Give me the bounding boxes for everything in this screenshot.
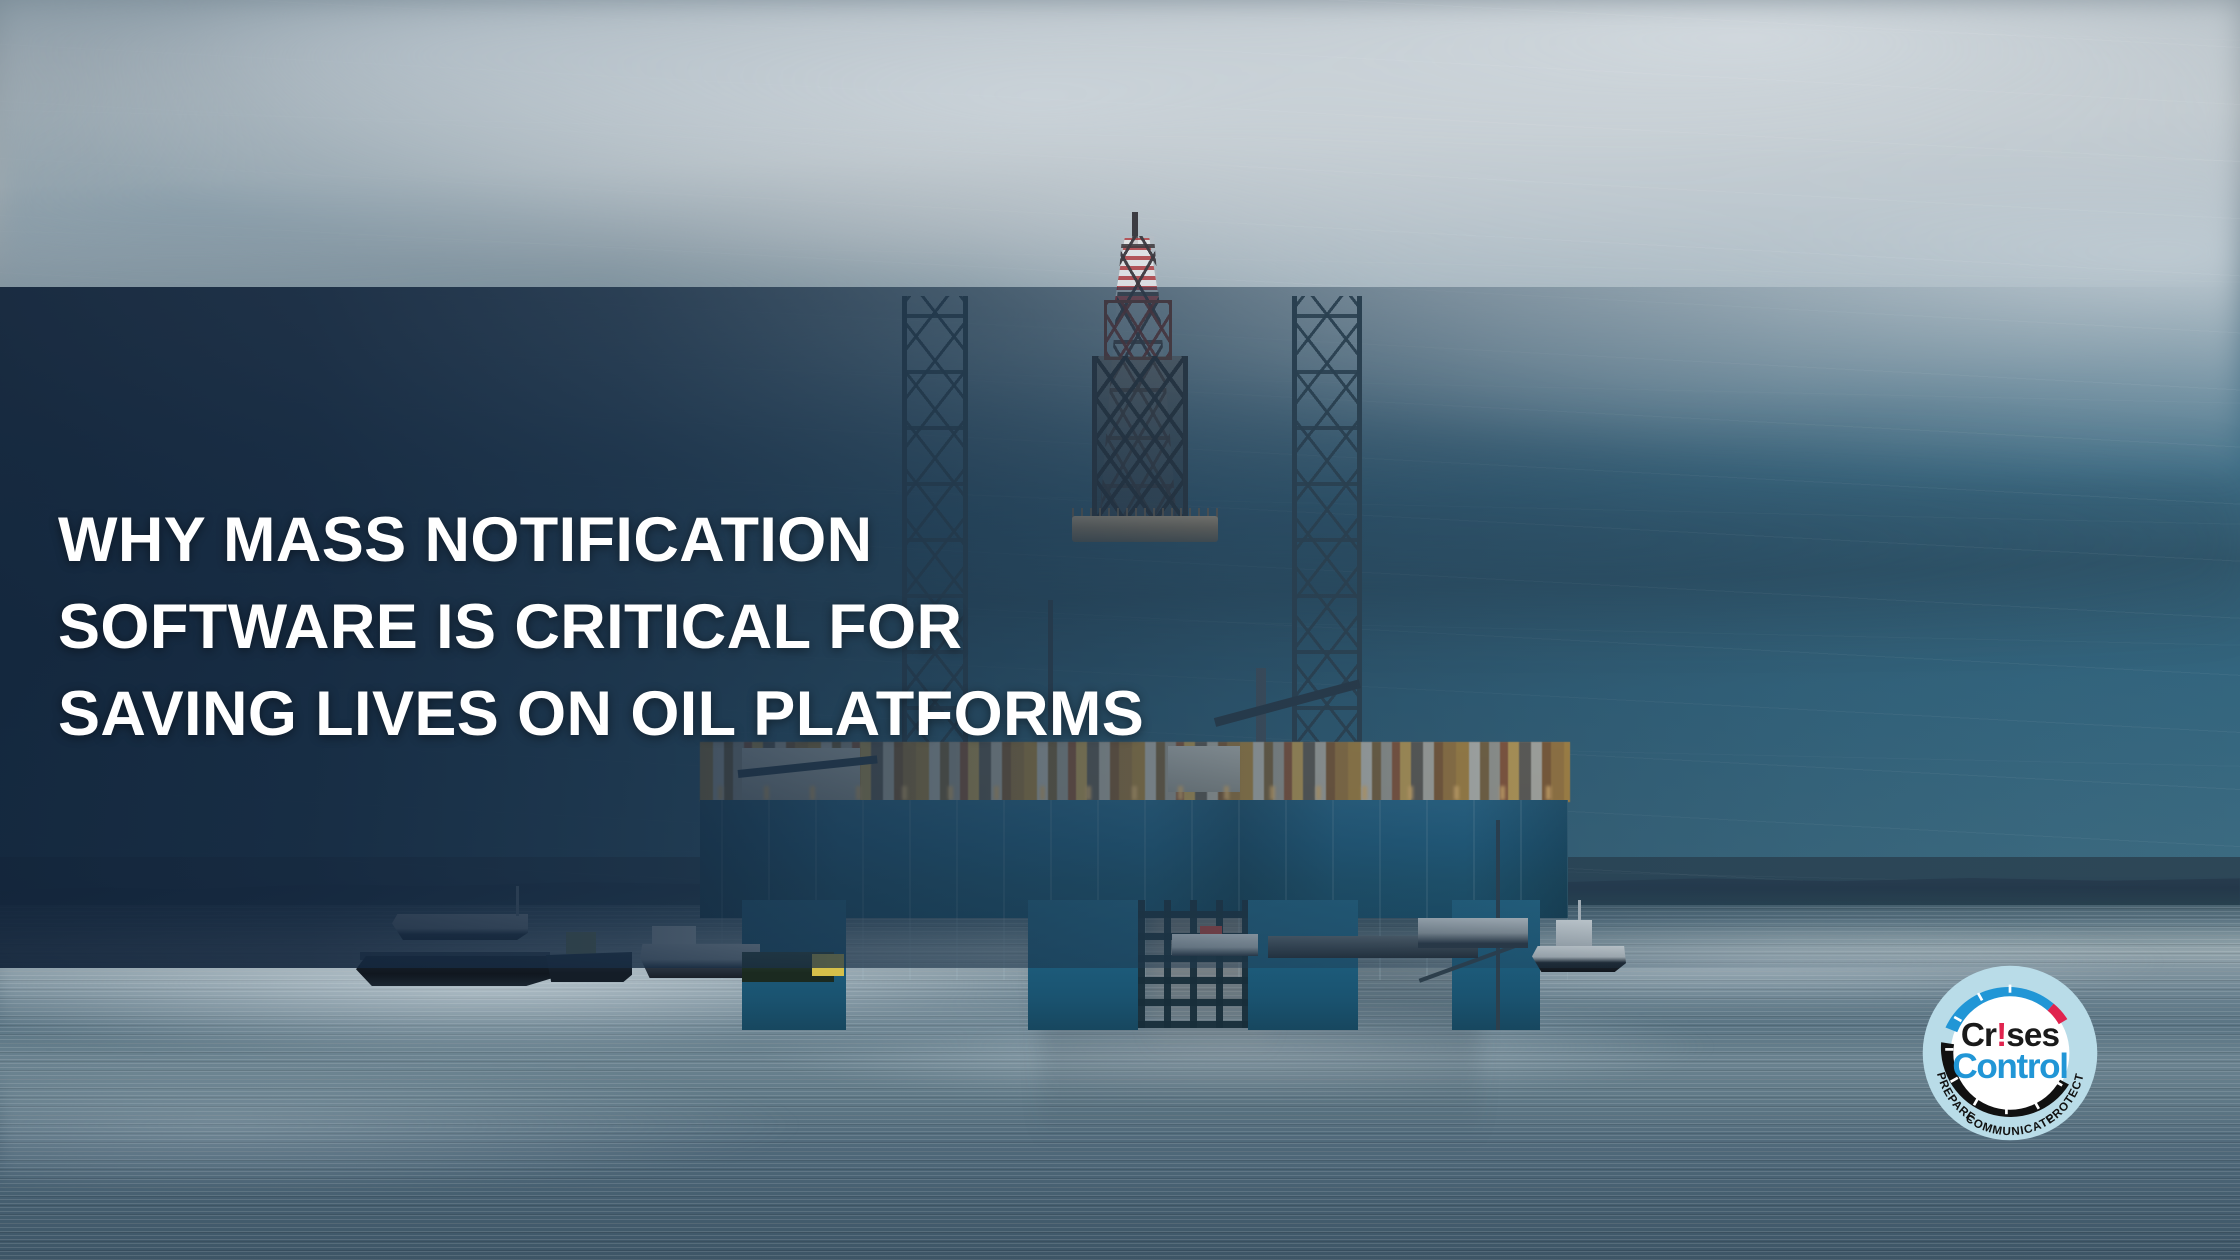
headline-line-1: WHY MASS NOTIFICATION — [58, 497, 1558, 584]
logo-word-control: Control — [1952, 1047, 2067, 1086]
crises-control-logo[interactable]: Cr!ses Control PREPARE COMMUNICATE PROTE… — [1920, 963, 2100, 1143]
headline-line-2: SOFTWARE IS CRITICAL FOR — [58, 584, 1558, 671]
hero-headline: WHY MASS NOTIFICATION SOFTWARE IS CRITIC… — [58, 497, 1558, 758]
hero-banner: WHY MASS NOTIFICATION SOFTWARE IS CRITIC… — [0, 0, 2240, 1260]
headline-line-3: SAVING LIVES ON OIL PLATFORMS — [58, 671, 1558, 758]
